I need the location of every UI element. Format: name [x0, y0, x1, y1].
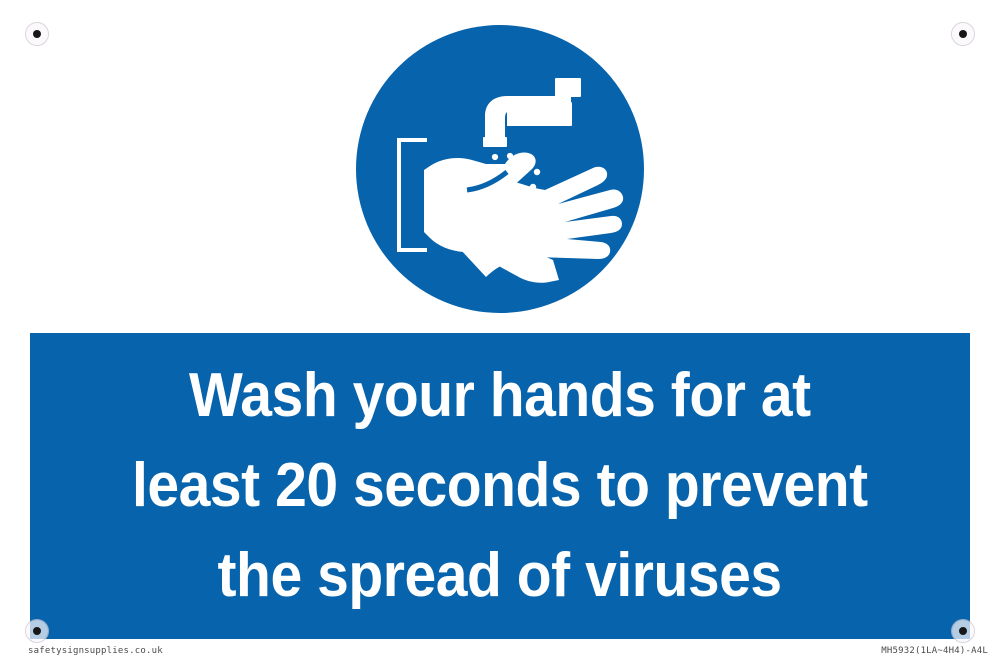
product-code-label: MH5932(1LA~4H4)-A4L: [881, 646, 988, 656]
wash-your-hands-pictogram: [355, 24, 645, 314]
sign-message-line-2: least 20 seconds to prevent: [132, 441, 868, 531]
sign-message-line-3: the spread of viruses: [218, 531, 782, 621]
safety-sign-sheet: Wash your hands for at least 20 seconds …: [0, 0, 1000, 666]
fixing-hole-bottom-right: [952, 620, 974, 642]
website-watermark: safetysignsupplies.co.uk: [28, 646, 163, 656]
fixing-hole-top-right: [952, 23, 974, 45]
sign-message-line-1: Wash your hands for at: [189, 351, 811, 441]
fixing-hole-top-left: [26, 23, 48, 45]
pictogram-area: [0, 0, 1000, 333]
fixing-hole-bottom-left: [26, 620, 48, 642]
sign-text-banner: Wash your hands for at least 20 seconds …: [30, 333, 970, 639]
